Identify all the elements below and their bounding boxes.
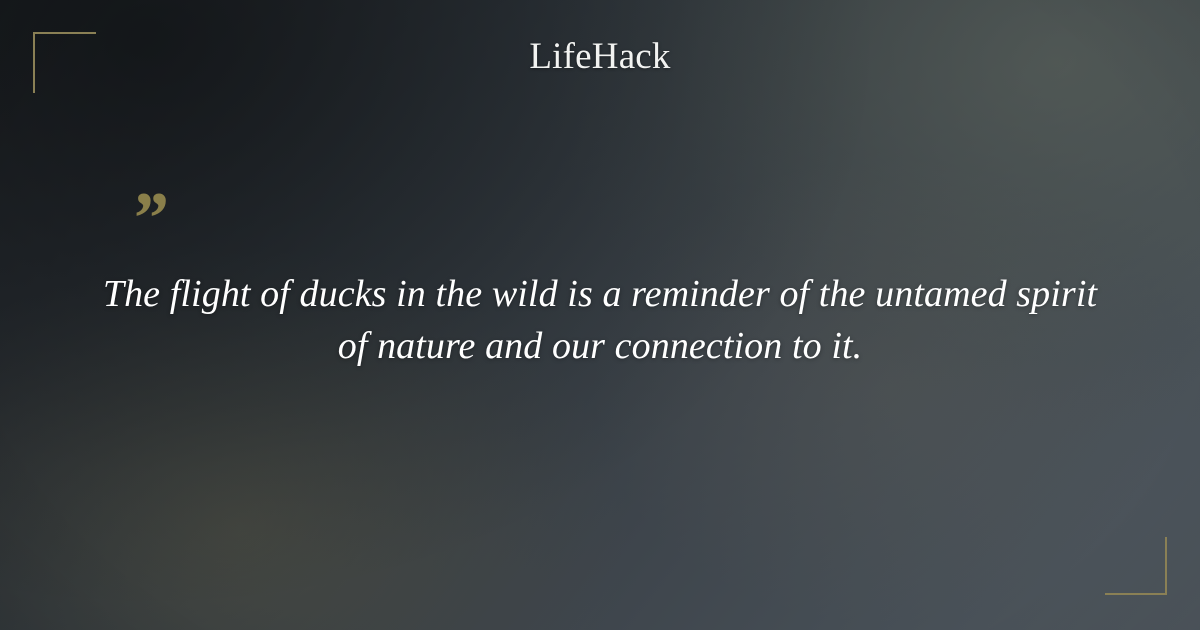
corner-bracket-bottom-right-icon <box>1105 537 1167 595</box>
corner-bracket-top-left-horizontal <box>33 32 96 34</box>
corner-bracket-bottom-right-vertical <box>1165 537 1167 595</box>
quote-text: The flight of ducks in the wild is a rem… <box>100 268 1100 372</box>
quote-card: LifeHack ” The flight of ducks in the wi… <box>0 0 1200 630</box>
quote-block: The flight of ducks in the wild is a rem… <box>100 268 1100 372</box>
brand-logo-text: LifeHack <box>529 36 670 77</box>
quotation-mark-icon: ” <box>130 182 167 256</box>
corner-bracket-bottom-right-horizontal <box>1105 593 1167 595</box>
brand-logo: LifeHack <box>0 36 1200 77</box>
